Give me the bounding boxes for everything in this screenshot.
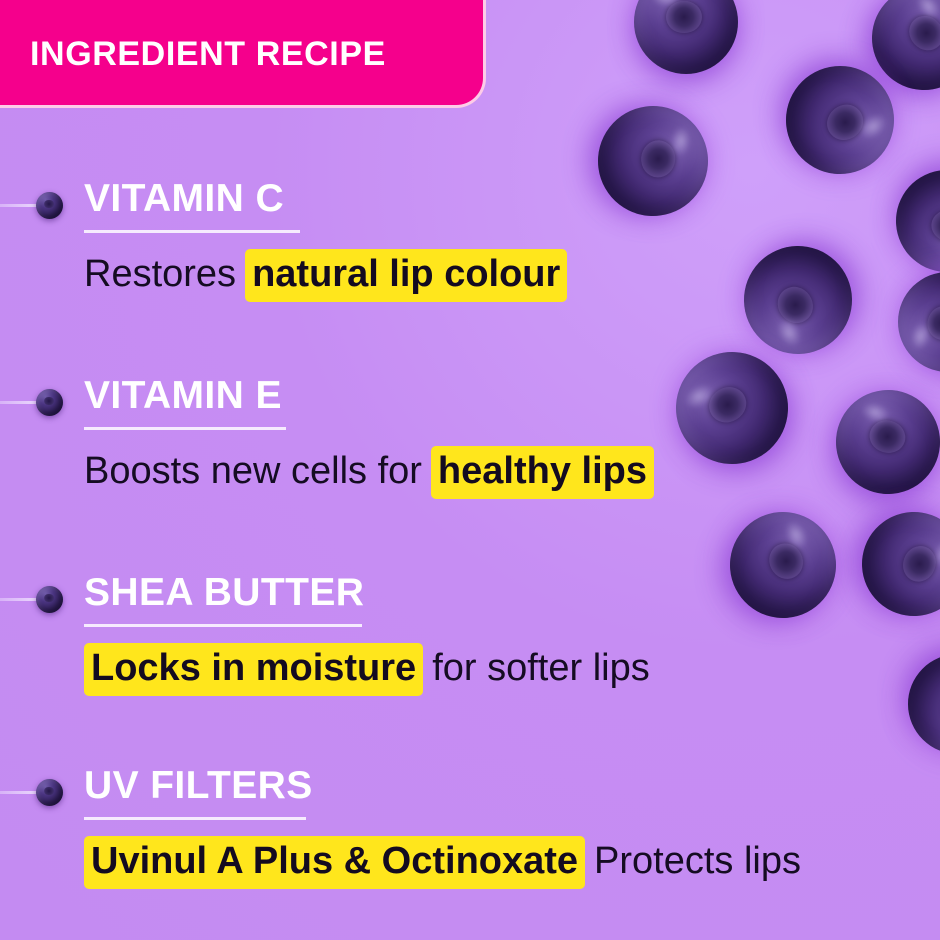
blueberry-icon (36, 779, 63, 806)
ingredient-name-underline (84, 624, 362, 627)
description-text: Restores (84, 253, 236, 295)
description-highlight: Uvinul A Plus & Octinoxate (84, 836, 585, 889)
blueberry-icon (36, 192, 63, 219)
ingredient-name-underline (84, 427, 286, 430)
ingredient-name-underline (84, 230, 300, 233)
blueberry-icon (634, 0, 738, 74)
ingredient-description: Locks in moisturefor softer lips (84, 647, 650, 691)
ingredient-name: VITAMIN E (84, 375, 282, 417)
ingredient-description: Uvinul A Plus & OctinoxateProtects lips (84, 840, 801, 884)
ingredient-item: VITAMIN EBoosts new cells forhealthy lip… (0, 375, 940, 525)
ingredient-name: UV FILTERS (84, 765, 313, 807)
blueberry-icon (36, 586, 63, 613)
page-title: INGREDIENT RECIPE (30, 29, 386, 71)
blueberry-icon (36, 389, 63, 416)
ingredient-description: Boosts new cells forhealthy lips (84, 450, 654, 494)
ingredient-item: UV FILTERSUvinul A Plus & OctinoxateProt… (0, 765, 940, 915)
ingredient-name: SHEA BUTTER (84, 572, 364, 614)
description-text: Boosts new cells for (84, 450, 422, 492)
description-text: for softer lips (432, 647, 650, 689)
ingredient-description: Restoresnatural lip colour (84, 253, 567, 297)
description-highlight: Locks in moisture (84, 643, 423, 696)
ingredient-item: SHEA BUTTERLocks in moisturefor softer l… (0, 572, 940, 722)
poster-canvas: INGREDIENT RECIPE VITAMIN CRestoresnatur… (0, 0, 940, 940)
description-text: Protects lips (594, 840, 801, 882)
description-highlight: healthy lips (431, 446, 654, 499)
header-banner: INGREDIENT RECIPE (0, 0, 486, 108)
ingredient-item: VITAMIN CRestoresnatural lip colour (0, 178, 940, 328)
description-highlight: natural lip colour (245, 249, 567, 302)
ingredient-name: VITAMIN C (84, 178, 284, 220)
ingredient-name-underline (84, 817, 306, 820)
